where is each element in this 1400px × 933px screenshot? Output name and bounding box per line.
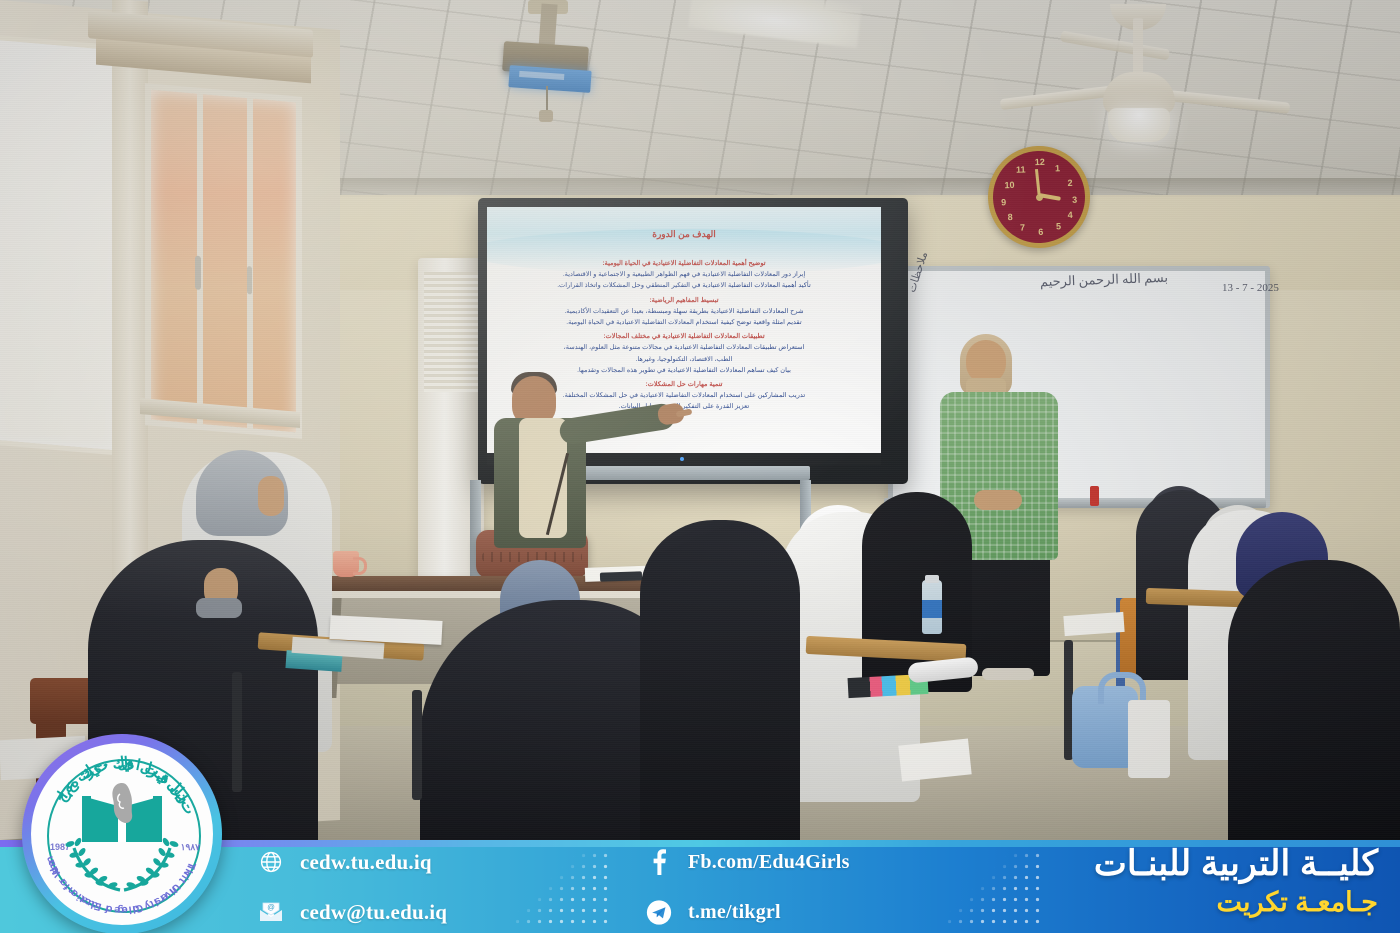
footer-social: Fb.com/Edu4Girls t.me/tikgrl <box>646 845 850 929</box>
facebook-icon <box>646 849 672 875</box>
coffee-mug <box>333 551 359 577</box>
window-near <box>145 83 302 439</box>
slide-line: بيان كيف تساهم المعادلات التفاضلية الاعت… <box>495 365 873 376</box>
facebook-text: Fb.com/Edu4Girls <box>688 851 850 874</box>
presenter-female-shoes <box>982 668 1034 680</box>
slide-heading: توضيح أهمية المعادلات التفاضلية الاعتياد… <box>495 258 873 269</box>
slide-heading: تبسيط المفاهيم الرياضية: <box>495 295 873 306</box>
contact-email[interactable]: @ cedw@tu.edu.iq <box>258 895 447 929</box>
whiteboard-date: 13 - 7 - 2025 <box>1222 282 1279 294</box>
slide-heading: تطبيقات المعادلات التفاضلية الاعتيادية ف… <box>495 331 873 342</box>
water-bottle-label <box>922 600 942 618</box>
slide-title: الهدف من الدورة <box>487 229 881 240</box>
website-text: cedw.tu.edu.iq <box>300 850 432 875</box>
telegram-icon <box>646 899 672 925</box>
email-text: cedw@tu.edu.iq <box>300 900 447 925</box>
slide-line: إبراز دور المعادلات التفاضلية الاعتيادية… <box>495 269 873 280</box>
slide-line: استعراض تطبيقات المعادلات التفاضلية الاع… <box>495 342 873 353</box>
teacher-desk-edge <box>316 591 664 598</box>
envelope-icon: @ <box>258 899 284 925</box>
dot-pattern-right <box>944 850 1040 930</box>
brand-university-name: جـامعـة تكريت <box>1094 885 1378 919</box>
student-papers-3 <box>898 738 971 781</box>
classroom-photo: 12 1 2 3 4 5 6 7 8 9 10 11 بسم الله الرح… <box>0 0 1400 840</box>
student-black-abaya-6 <box>1228 560 1400 840</box>
student-sleeve-cuff <box>196 598 242 618</box>
globe-icon <box>258 849 284 875</box>
slide-line: شرح المعادلات التفاضلية الاعتيادية بطريق… <box>495 306 873 317</box>
water-bottle-cap <box>925 575 939 583</box>
smartboard-stand-bar <box>560 466 810 480</box>
whiteboard-marker <box>1090 486 1099 506</box>
svg-text:@: @ <box>267 903 275 912</box>
screenshot-root: 12 1 2 3 4 5 6 7 8 9 10 11 بسم الله الرح… <box>0 0 1400 933</box>
seat-frame-1 <box>232 672 242 792</box>
student-black-abaya-3 <box>640 520 800 840</box>
social-facebook[interactable]: Fb.com/Edu4Girls <box>646 845 850 879</box>
slide-line: الطب، الاقتصاد، التكنولوجيا، وغيرها. <box>495 354 873 365</box>
student-books-right <box>1063 612 1124 636</box>
fan-downrod <box>1133 18 1143 76</box>
brand-college-name: كليــة التربية للبنـات <box>1094 843 1378 885</box>
telegram-text: t.me/tikgrl <box>688 901 781 924</box>
slide-line: تقديم امثلة واقعية توضح كيفية استخدام ال… <box>495 317 873 328</box>
laurel-wreath-icon <box>60 818 184 894</box>
projector-cord <box>546 86 548 112</box>
footer-contacts: cedw.tu.edu.iq @ cedw@tu.edu.iq <box>258 845 447 929</box>
student-face-1 <box>258 476 284 516</box>
desk-phone <box>600 571 642 581</box>
slide-line: تأكيد أهمية المعادلات التفاضلية الاعتياد… <box>495 280 873 291</box>
smartboard-power-led <box>680 457 684 461</box>
social-telegram[interactable]: t.me/tikgrl <box>646 895 850 929</box>
ac-vents <box>424 272 478 392</box>
white-tote-bag <box>1128 700 1170 778</box>
window-far <box>0 34 120 455</box>
dot-pattern-left <box>512 850 608 930</box>
college-logo: جامعة تكريت - كلية التربية للبنات Tikrit… <box>22 734 226 933</box>
contact-website[interactable]: cedw.tu.edu.iq <box>258 845 447 879</box>
fan-light <box>1108 108 1170 142</box>
presenter-female-hands <box>974 490 1022 510</box>
projector-plug <box>539 110 553 122</box>
footer-brand: كليــة التربية للبنـات جـامعـة تكريت <box>1094 843 1378 919</box>
seat-frame-2 <box>412 690 422 800</box>
